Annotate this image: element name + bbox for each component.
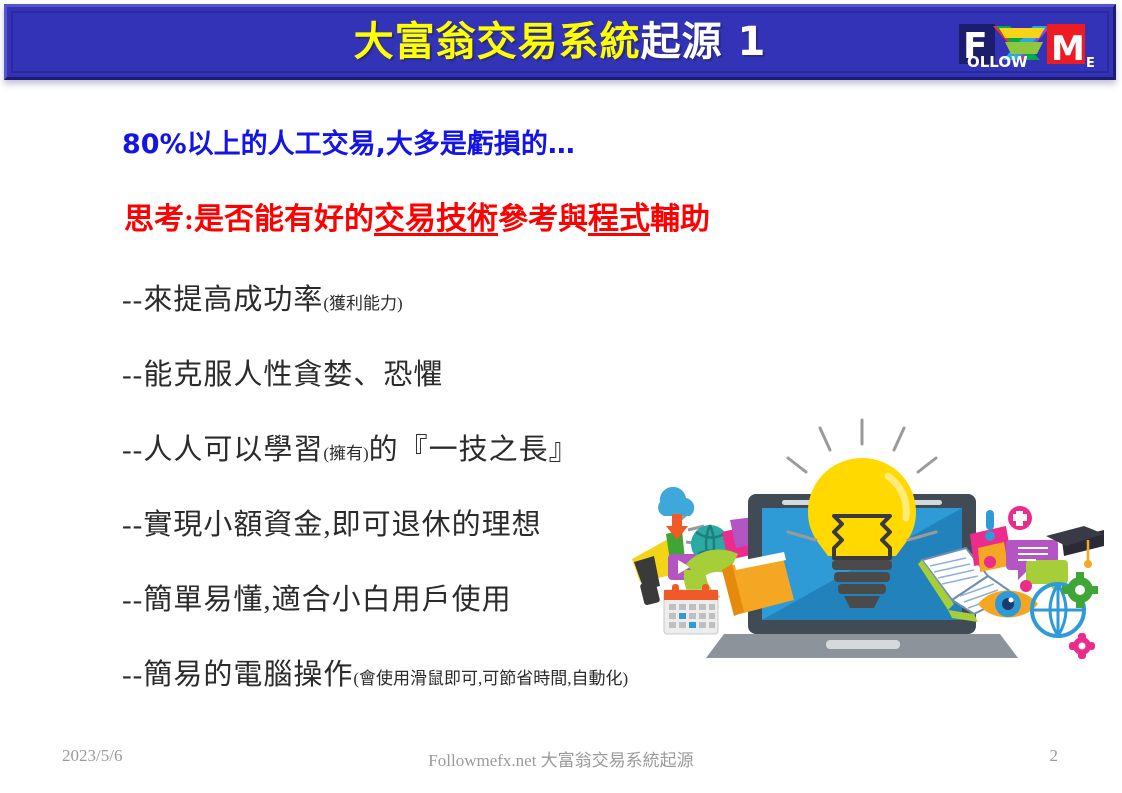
illustration-svg <box>622 414 1104 676</box>
cloud-download-icon <box>658 487 694 540</box>
headline-text: 80%以上的人工交易,大多是虧損的… <box>122 131 575 158</box>
bullet-main-text: --簡單易懂,適合小白用戶使用 <box>122 584 512 616</box>
question-emphasis-trading-skill: 交易技術 <box>374 201 498 236</box>
question-text: 思考:是否能有好的交易技術參考與程式輔助 <box>124 203 710 235</box>
logo-letter-m: M <box>1051 29 1085 69</box>
slide-content: 80%以上的人工交易,大多是虧損的… 思考:是否能有好的交易技術參考與程式輔助 … <box>0 96 1122 736</box>
exclamation-icon <box>985 510 995 541</box>
bullet-note-text: (獲利能力) <box>323 294 402 313</box>
bullet-item: --簡易的電腦操作(會使用滑鼠即可,可節省時間,自動化) <box>122 661 628 690</box>
footer-center-text: Followmefx.net 大富翁交易系統起源 <box>0 746 1122 771</box>
question-prefix: 思考:是否能有好的 <box>124 203 374 236</box>
followme-logo-svg: F M OLLOW E <box>959 18 1099 72</box>
bullet-main-text: --能克服人性貪婪、恐懼 <box>122 359 443 391</box>
bullet-main-text: --實現小額資金,即可退休的理想 <box>122 509 542 541</box>
bullet-main-text: --來提高成功率 <box>122 284 323 316</box>
bullet-main-text: --簡易的電腦操作 <box>122 659 353 691</box>
medical-cross-icon <box>1008 506 1032 530</box>
question-emphasis-program: 程式 <box>588 201 650 236</box>
bullet-item: --來提高成功率(獲利能力) <box>122 286 403 315</box>
slide-footer: 2023/5/6 Followmefx.net 大富翁交易系統起源 2 <box>0 740 1122 774</box>
flower-icon-bottom <box>1069 633 1095 659</box>
page-title-primary: 大富翁交易系統 <box>354 19 641 65</box>
bullet-item: --能克服人性貪婪、恐懼 <box>122 361 443 390</box>
bullet-main-text: --人人可以學習 <box>122 434 323 466</box>
question-middle: 參考與 <box>498 203 588 236</box>
page-title: 大富翁交易系統起源 1 <box>7 22 1113 62</box>
question-suffix: 輔助 <box>650 203 710 236</box>
logo-letters-ollow: OLLOW <box>967 53 1028 71</box>
calendar-icon <box>664 584 718 634</box>
followme-logo: F M OLLOW E <box>959 18 1099 72</box>
laptop-lightbulb-illustration <box>622 414 1104 676</box>
page-title-secondary: 起源 1 <box>641 19 767 65</box>
bullet-item: --實現小額資金,即可退休的理想 <box>122 511 542 540</box>
flower-icon-small <box>1020 580 1032 592</box>
bullet-note-text: (會使用滑鼠即可,可節省時間,自動化) <box>353 669 628 688</box>
bullet-item: --人人可以學習(擁有)的『一技之長』 <box>122 436 579 465</box>
bullet-tail-text: 的『一技之長』 <box>369 434 579 466</box>
bullet-item: --簡單易懂,適合小白用戶使用 <box>122 586 512 615</box>
slide-title-bar: 大富翁交易系統起源 1 F M OLLOW E <box>4 4 1116 80</box>
bullet-note-text: (擁有) <box>323 444 368 463</box>
logo-letter-e: E <box>1086 56 1095 71</box>
footer-page-number: 2 <box>1050 746 1059 766</box>
